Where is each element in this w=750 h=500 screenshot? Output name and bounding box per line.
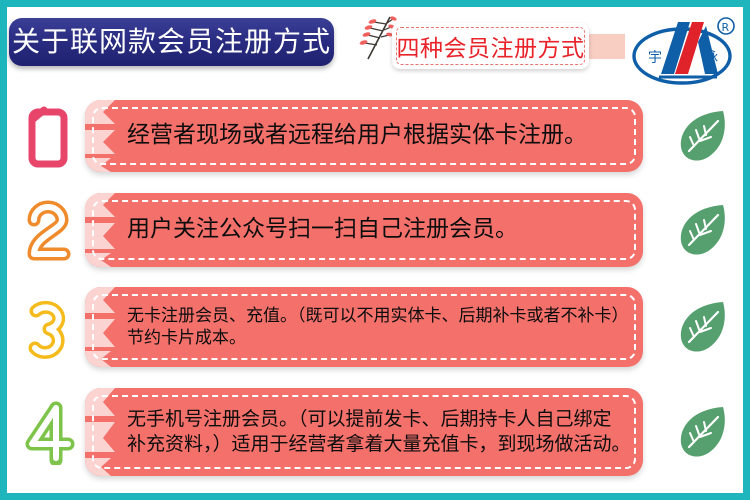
bubble-line: 无手机号注册会员。（可以提前发卡、后期持卡人自己绑定 bbox=[127, 407, 621, 432]
leaf-icon bbox=[673, 401, 731, 463]
bubble-line: 节约卡片成本。 bbox=[127, 327, 621, 349]
content-bubble: 经营者现场或者远程给用户根据实体卡注册。 bbox=[85, 100, 643, 172]
bubble-text: 用户关注公众号扫一扫自己注册会员。 bbox=[85, 193, 643, 267]
content-bubble: 无卡注册会员、充值。（既可以不用实体卡、后期补卡或者不补卡） 节约卡片成本。 bbox=[85, 287, 643, 367]
list-item: 无手机号注册会员。（可以提前发卡、后期持卡人自己绑定 补充资料，）适用于经营者拿… bbox=[7, 377, 743, 487]
list-item: 经营者现场或者远程给用户根据实体卡注册。 bbox=[7, 89, 743, 182]
numeral-4 bbox=[21, 399, 83, 465]
sub-label-badge: 四种会员注册方式 bbox=[392, 23, 589, 69]
poster-root: 关于联网款会员注册方式 四种会员注 bbox=[0, 0, 750, 500]
bubble-line: 用户关注公众号扫一扫自己注册会员。 bbox=[127, 215, 621, 245]
numeral-2 bbox=[21, 197, 83, 263]
title-badge: 关于联网款会员注册方式 bbox=[9, 18, 334, 66]
bubble-text: 无卡注册会员、充值。（既可以不用实体卡、后期补卡或者不补卡） 节约卡片成本。 bbox=[85, 287, 643, 367]
yumai-logo: 宇 脉 R bbox=[628, 12, 740, 90]
registered-mark: R bbox=[722, 21, 730, 34]
bubble-line: 补充资料，）适用于经营者拿着大量充值卡，到现场做活动。 bbox=[127, 432, 621, 457]
logo-right-char: 脉 bbox=[704, 50, 718, 66]
leaf-icon bbox=[673, 296, 731, 358]
list-item: 无卡注册会员、充值。（既可以不用实体卡、后期补卡或者不补卡） 节约卡片成本。 bbox=[7, 277, 743, 377]
bubble-line: 经营者现场或者远程给用户根据实体卡注册。 bbox=[127, 121, 621, 151]
header: 关于联网款会员注册方式 四种会员注 bbox=[7, 7, 743, 89]
bubble-text: 无手机号注册会员。（可以提前发卡、后期持卡人自己绑定 补充资料，）适用于经营者拿… bbox=[85, 388, 643, 476]
page-title: 关于联网款会员注册方式 bbox=[12, 28, 331, 56]
content-bubble: 无手机号注册会员。（可以提前发卡、后期持卡人自己绑定 补充资料，）适用于经营者拿… bbox=[85, 388, 643, 476]
logo-left-char: 宇 bbox=[648, 50, 662, 66]
bubble-line: 无卡注册会员、充值。（既可以不用实体卡、后期补卡或者不补卡） bbox=[127, 305, 621, 327]
sub-label-text: 四种会员注册方式 bbox=[392, 23, 589, 69]
content-bubble: 用户关注公众号扫一扫自己注册会员。 bbox=[85, 193, 643, 267]
bubble-text: 经营者现场或者远程给用户根据实体卡注册。 bbox=[85, 100, 643, 172]
numeral-3 bbox=[21, 294, 83, 360]
leaf-icon bbox=[673, 199, 731, 261]
list-item: 用户关注公众号扫一扫自己注册会员。 bbox=[7, 182, 743, 277]
leaf-icon bbox=[673, 105, 731, 167]
numeral-1 bbox=[21, 103, 83, 169]
